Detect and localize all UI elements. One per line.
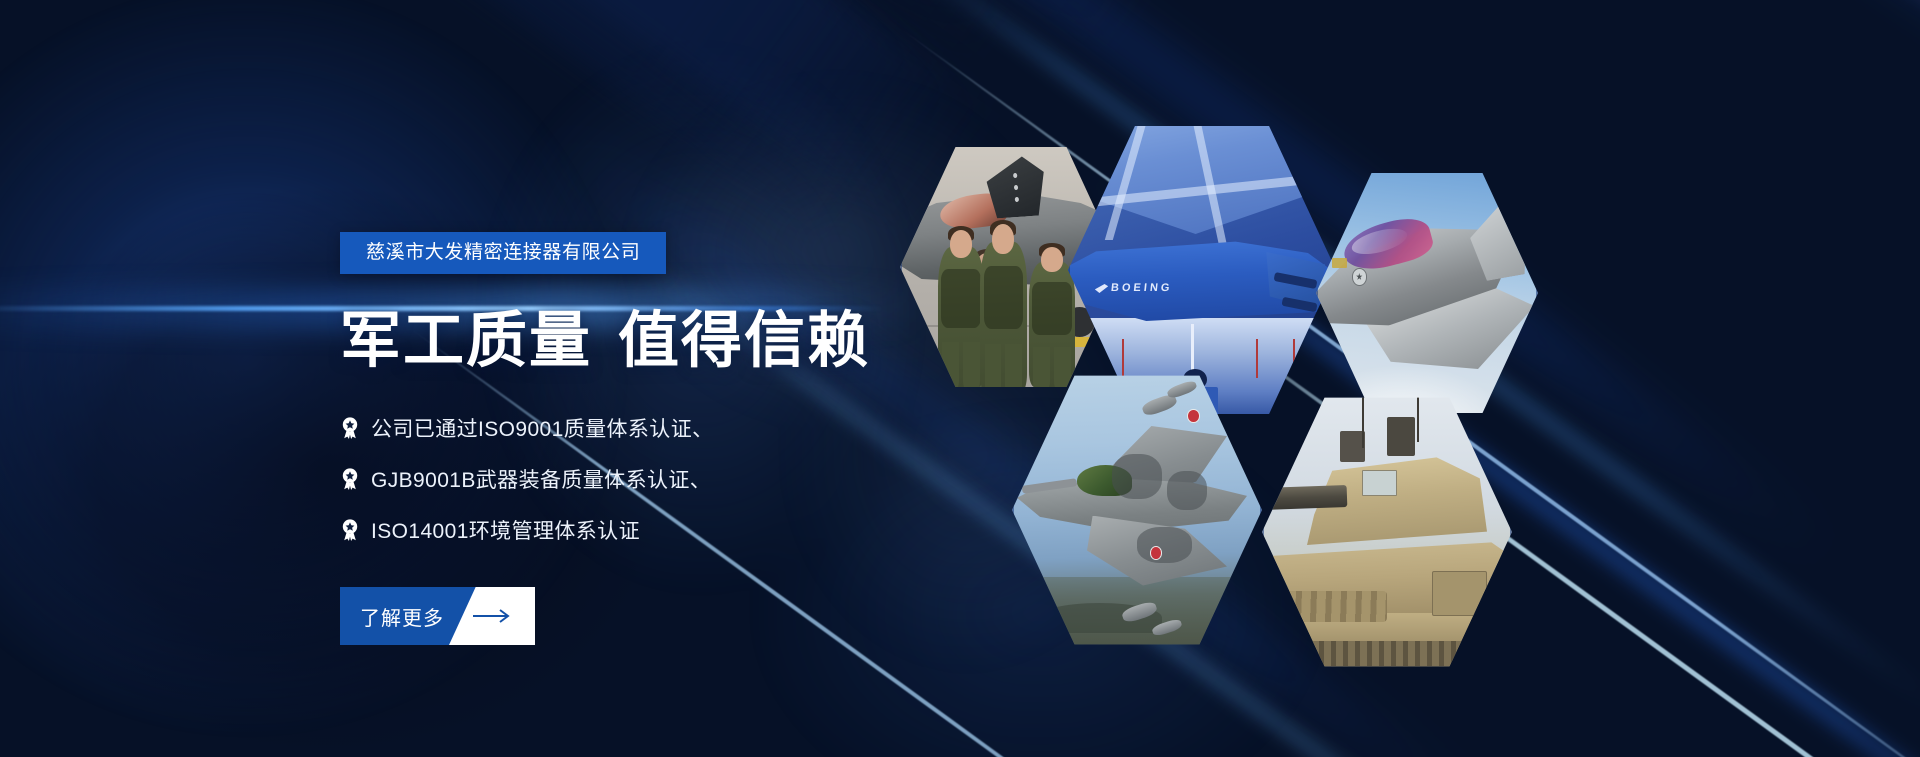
medal-icon	[340, 468, 360, 490]
hero-banner: BOEING	[0, 0, 1920, 757]
light-streak	[1522, 0, 1920, 302]
hero-content: 慈溪市大发精密连接器有限公司 军工质量值得信赖 公司已通过ISO9001质量体系…	[340, 232, 960, 645]
medal-icon	[340, 519, 360, 541]
list-item: 公司已通过ISO9001质量体系认证、	[340, 413, 960, 443]
battle-tank-hexagon	[1262, 392, 1512, 672]
light-streak	[1754, 0, 1920, 418]
light-streak	[1601, 0, 1920, 338]
light-streak	[1793, 0, 1920, 490]
list-item-label: ISO14001环境管理体系认证	[371, 515, 640, 545]
light-streak	[1136, 0, 1920, 109]
headline-part-2: 值得信赖	[618, 306, 870, 374]
company-name-badge: 慈溪市大发精密连接器有限公司	[340, 232, 666, 274]
hexagon-image-cluster: BOEING	[900, 120, 1520, 640]
list-item: GJB9001B武器装备质量体系认证、	[340, 464, 960, 494]
list-item-label: 公司已通过ISO9001质量体系认证、	[371, 413, 714, 443]
medal-icon	[340, 417, 360, 439]
boeing-aircraft-hexagon: BOEING	[1068, 120, 1336, 420]
headline-part-1: 军工质量	[340, 306, 592, 374]
learn-more-button[interactable]: 了解更多	[340, 587, 535, 645]
light-streak	[1908, 0, 1920, 506]
page-title: 军工质量值得信赖	[340, 310, 960, 371]
light-streak	[1828, 0, 1920, 470]
list-item: ISO14001环境管理体系认证	[340, 515, 960, 545]
light-streak	[1486, 0, 1920, 370]
fighter-nose-hexagon	[1316, 168, 1538, 418]
certification-list: 公司已通过ISO9001质量体系认证、 GJB9001B武器装备质量体系认证、	[340, 413, 960, 545]
list-item-label: GJB9001B武器装备质量体系认证、	[371, 464, 711, 494]
arrow-right-icon	[465, 587, 521, 645]
learn-more-label: 了解更多	[360, 587, 444, 645]
light-streak	[1673, 0, 1920, 398]
boeing-watermark: BOEING	[1110, 282, 1173, 294]
